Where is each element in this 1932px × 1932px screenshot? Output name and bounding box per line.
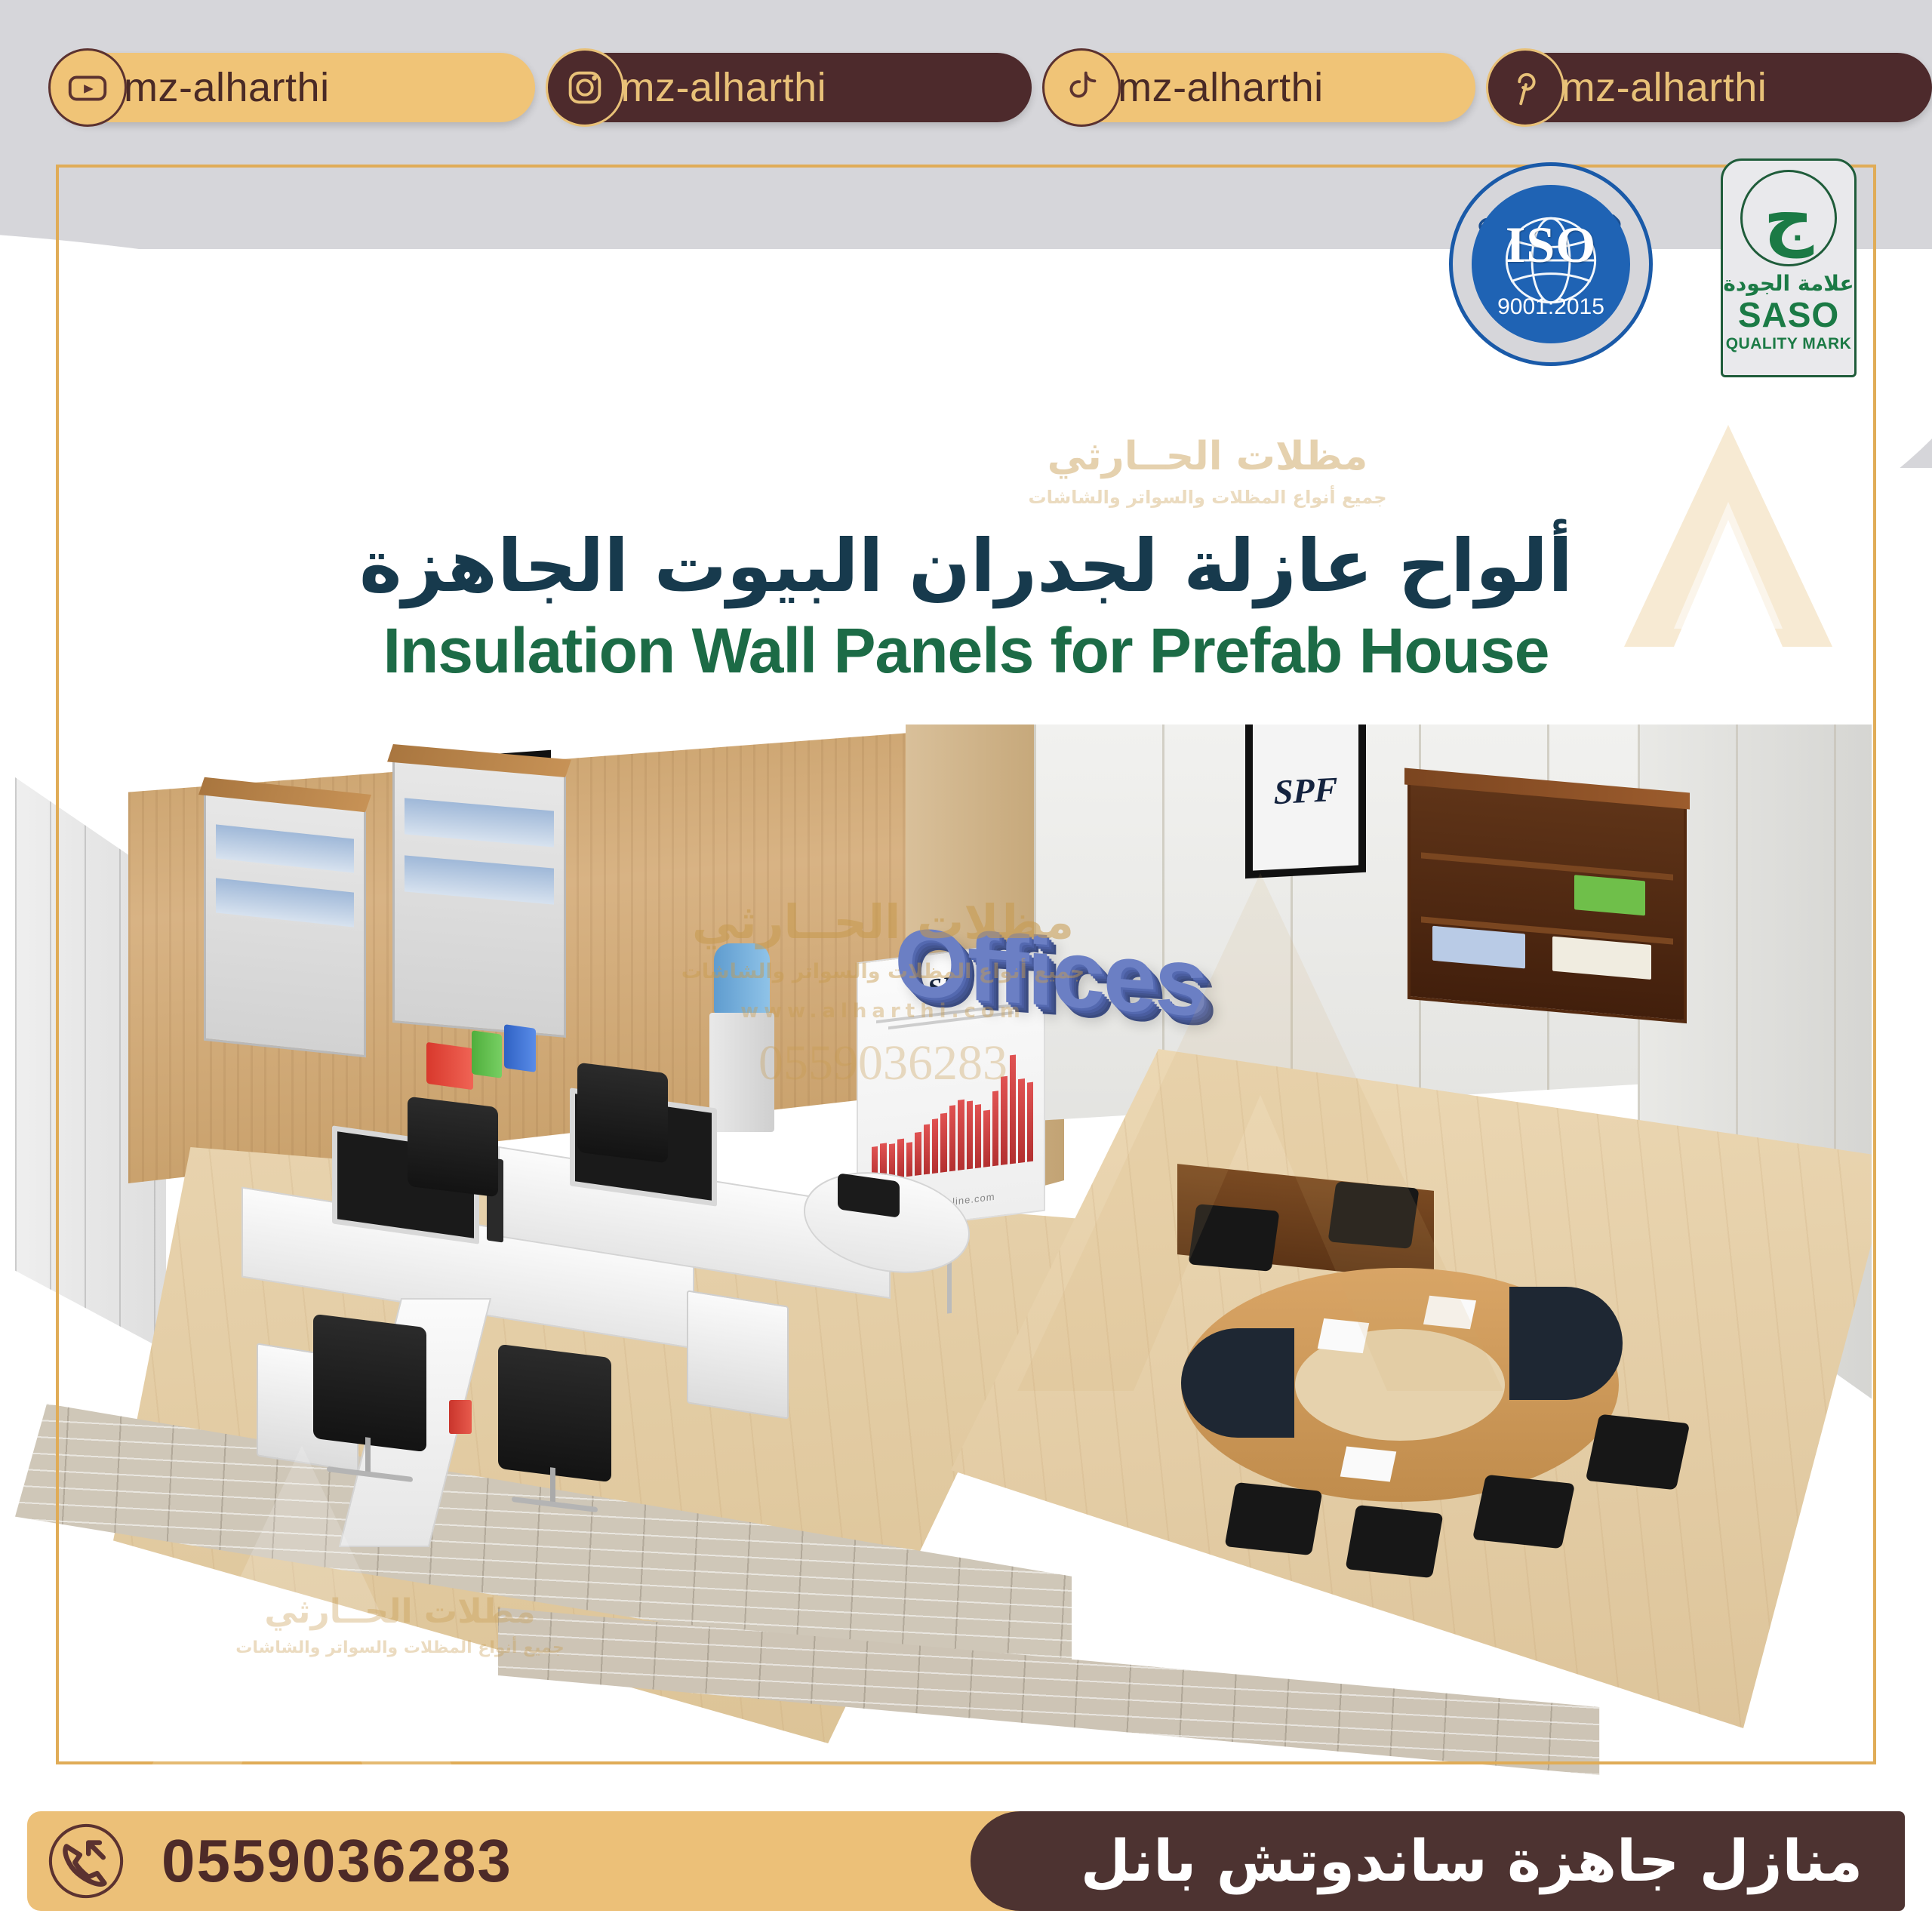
green-file-holder — [472, 1030, 502, 1078]
paper-document — [1340, 1447, 1397, 1482]
water-cooler — [709, 943, 774, 1132]
saso-arabic-letter: ج — [1764, 190, 1814, 246]
headline-block: ألواح عازلة لجدران البيوت الجاهزة Insula… — [0, 521, 1932, 685]
artwork-label: SPF — [1274, 769, 1337, 812]
chart-bar — [924, 1124, 930, 1174]
chair-post — [550, 1467, 555, 1506]
blue-file-holder — [504, 1024, 536, 1072]
poster-canvas: mz-alharthi mz-alharthi mz-alharthi mz-a… — [0, 0, 1932, 1932]
table-dark-segment — [1181, 1328, 1294, 1438]
footer-phone-number: 0559036283 — [162, 1831, 512, 1891]
social-handle-label: mz-alharthi — [1118, 67, 1324, 108]
iso-wordmark: ISO — [1506, 215, 1596, 275]
red-cup — [449, 1400, 472, 1434]
banner-bar-chart — [872, 1048, 1033, 1181]
iso-inner-disc: ISO 9001:2015 — [1472, 185, 1630, 343]
meeting-chair — [1346, 1505, 1444, 1578]
wooden-bookcase — [1407, 780, 1687, 1023]
bookcase-shelf — [1421, 853, 1672, 881]
saso-arabic-label: علامة الجودة — [1723, 271, 1854, 296]
meeting-chair — [1586, 1414, 1690, 1491]
artwork-mat: SPF — [1253, 724, 1358, 871]
meeting-chair — [1327, 1181, 1419, 1249]
storage-cabinet — [204, 792, 366, 1058]
social-badge-youtube[interactable]: mz-alharthi — [54, 53, 535, 122]
chair-back — [313, 1314, 426, 1452]
chart-bar — [897, 1139, 903, 1178]
footer-tagline-panel: منازل جاهزة ساندوتش بانل — [971, 1811, 1905, 1911]
chair-back — [577, 1063, 668, 1164]
green-binders — [1574, 875, 1645, 915]
chair-back — [408, 1097, 498, 1198]
blue-binders — [1432, 926, 1525, 969]
office-chair — [498, 1344, 611, 1546]
paper-document — [1318, 1318, 1370, 1353]
chart-bar — [1027, 1082, 1033, 1162]
social-handle-label: mz-alharthi — [124, 67, 330, 108]
binder-row — [405, 855, 553, 904]
social-badge-instagram[interactable]: mz-alharthi — [552, 53, 1032, 122]
chair-post — [365, 1437, 371, 1475]
cooler-body — [709, 1013, 774, 1132]
offices-3d-text: Offices — [894, 906, 1206, 1039]
chart-bar — [983, 1110, 989, 1168]
office-chair — [313, 1314, 426, 1516]
chart-bar — [915, 1132, 921, 1176]
iso-standard-number: 9001:2015 — [1497, 294, 1604, 320]
footer-arabic-tagline: منازل جاهزة ساندوتش بانل — [1013, 1832, 1863, 1890]
white-binders — [1552, 937, 1651, 980]
chart-bar — [940, 1113, 946, 1173]
chart-bar — [958, 1100, 964, 1171]
social-handle-label: mz-alharthi — [1561, 67, 1767, 108]
footer-contact-bar: 0559036283 منازل جاهزة ساندوتش بانل — [27, 1811, 1905, 1911]
meeting-chair — [1188, 1204, 1279, 1272]
chart-bar — [906, 1142, 912, 1177]
red-storage-bin — [426, 1042, 473, 1091]
binder-row — [405, 798, 553, 848]
binder-row — [216, 824, 355, 873]
chart-bar — [1018, 1078, 1024, 1163]
meeting-chair — [1472, 1475, 1575, 1549]
table-dark-segment — [1509, 1287, 1623, 1400]
chair-back — [498, 1344, 611, 1482]
chart-bar — [967, 1100, 973, 1169]
phone-call-icon — [47, 1822, 125, 1900]
water-bottle — [714, 943, 770, 1016]
headline-arabic: ألواح عازلة لجدران البيوت الجاهزة — [0, 521, 1932, 611]
instagram-icon — [546, 48, 624, 127]
framed-artwork-right: SPF — [1245, 724, 1366, 878]
chart-bar — [992, 1091, 998, 1166]
headline-english: Insulation Wall Panels for Prefab House — [0, 616, 1932, 685]
office-render-scene: SPF SPF — [15, 724, 1872, 1781]
iso-certification-badge: CERTIFIED COMPANY ISO 9001:2015 — [1449, 162, 1653, 366]
meeting-chair — [1225, 1482, 1323, 1555]
office-chair — [408, 1097, 498, 1244]
chart-bar — [1001, 1076, 1007, 1165]
binder-row — [216, 878, 355, 927]
paper-document — [1423, 1296, 1476, 1330]
saso-seal-circle: ج — [1740, 170, 1837, 266]
social-handles-row: mz-alharthi mz-alharthi mz-alharthi mz-a… — [0, 47, 1932, 128]
office-chair — [577, 1063, 668, 1210]
social-badge-tiktok[interactable]: mz-alharthi — [1048, 53, 1475, 122]
saso-subtitle: QUALITY MARK — [1726, 335, 1852, 353]
storage-cabinet — [392, 758, 566, 1038]
pinterest-icon — [1486, 48, 1564, 127]
saso-quality-mark-badge: ج علامة الجودة SASO QUALITY MARK — [1721, 158, 1857, 377]
chart-bar — [975, 1104, 981, 1168]
tiktok-icon — [1042, 48, 1121, 127]
saso-wordmark: SASO — [1738, 297, 1839, 332]
chart-bar — [1010, 1054, 1016, 1164]
youtube-icon — [48, 48, 127, 127]
chart-bar — [949, 1105, 955, 1171]
social-badge-pinterest[interactable]: mz-alharthi — [1492, 53, 1932, 122]
desk-pedestal — [687, 1290, 789, 1419]
social-handle-label: mz-alharthi — [621, 67, 827, 108]
footer-phone-panel[interactable]: 0559036283 — [27, 1811, 1050, 1911]
chart-bar — [932, 1118, 938, 1174]
